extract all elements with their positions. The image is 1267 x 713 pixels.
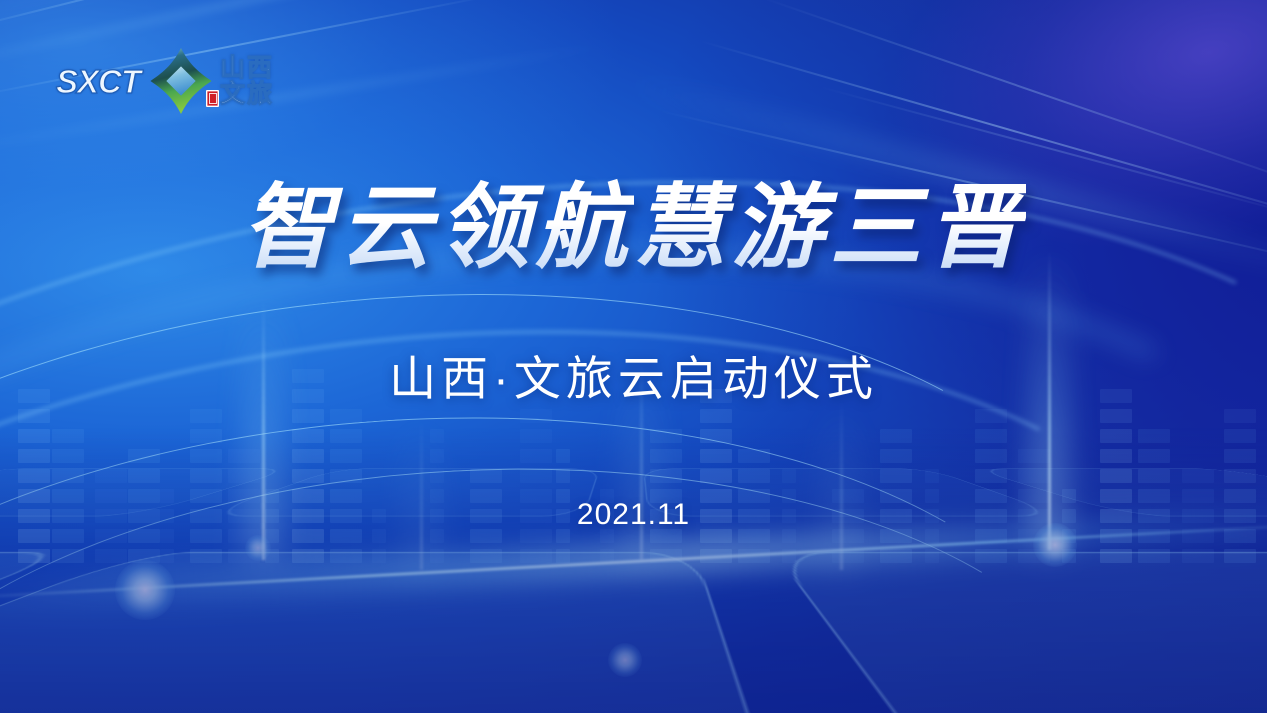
skyline-block (1100, 409, 1132, 423)
subtitle: 山西·文旅云启动仪式 (0, 340, 1267, 409)
skyline-block (1224, 409, 1256, 423)
subtitle-text: 山西·文旅云启动仪式 (389, 352, 878, 405)
skyline-block (18, 409, 50, 423)
red-seal-icon (206, 90, 219, 107)
logo-chinese-line-1: 山西 (220, 55, 274, 81)
skyline-block (330, 409, 362, 423)
event-date: 2021.11 (0, 498, 1267, 532)
logo-latin-mark: SXCT (56, 65, 140, 98)
main-title: 智云领航慧游三晋 (0, 178, 1267, 277)
title-phrase-1: 智云领航 (241, 178, 633, 277)
title-phrase-2: 慧游三晋 (634, 178, 1026, 277)
diamond-star-icon (150, 48, 212, 114)
skyline-block (700, 409, 732, 423)
bottom-vignette (0, 428, 1267, 713)
logo-chinese-wordmark: 山西 文旅 (220, 55, 274, 107)
skyline-block (190, 409, 222, 423)
event-date-text: 2021.11 (577, 498, 690, 531)
logo-chinese-line-2: 文旅 (220, 81, 274, 107)
shanxi-culture-tourism-logo[interactable]: SXCT (56, 48, 274, 114)
skyline-block (292, 409, 324, 423)
skyline-block (975, 409, 1007, 423)
poster-canvas: SXCT (0, 0, 1267, 713)
skyline-block (520, 409, 552, 423)
